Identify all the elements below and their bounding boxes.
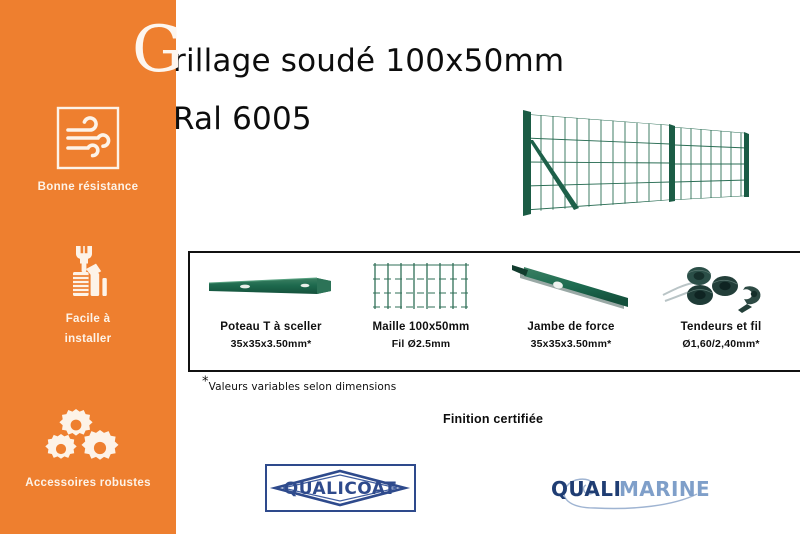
footnote: *Valeurs variables selon dimensions	[202, 381, 396, 393]
feature-label: Accessoires robustes	[25, 473, 151, 493]
title-drop-cap: G	[132, 24, 183, 78]
qualimarine-wordmark-part2: MARINE	[619, 477, 710, 501]
footnote-text: Valeurs variables selon dimensions	[209, 381, 397, 393]
qualimarine-logo: QUALI MARINE	[537, 466, 727, 512]
feature-label: Facile à	[66, 309, 111, 329]
feature-label-2: installer	[65, 329, 112, 349]
product-item-jambe-de-force: Jambe de force 35x35x3.50mm*	[496, 253, 646, 374]
feature-label: Bonne résistance	[38, 177, 139, 197]
gears-icon	[42, 408, 134, 473]
product-name: Maille 100x50mm	[373, 321, 470, 333]
feature-bonne-resistance: Bonne résistance	[0, 104, 176, 197]
feature-accessoires-robustes: Accessoires robustes	[0, 408, 176, 493]
product-name: Poteau T à sceller	[220, 321, 321, 333]
mesh-swatch-image	[351, 259, 491, 315]
product-name: Tendeurs et fil	[681, 321, 762, 333]
title-line-2: Ral 6005	[173, 104, 312, 135]
qualimarine-wordmark-part1: QUALI	[551, 477, 621, 501]
product-gallery-box: Poteau T à sceller 35x35x3.50mm*	[188, 251, 800, 372]
wind-icon	[54, 104, 122, 177]
product-spec: Fil Ø2.5mm	[392, 338, 451, 350]
welded-mesh-fence-photo	[495, 100, 785, 220]
feature-facile-a-installer: Facile à installer	[0, 240, 176, 349]
qualicoat-wordmark: QUALICOAT	[284, 479, 396, 499]
brace-strut-image	[501, 259, 641, 315]
product-spec: Ø1,60/2,40mm*	[682, 338, 759, 350]
tensioners-wire-image	[651, 259, 791, 315]
t-post-image	[201, 259, 341, 315]
product-sheet-page: Bonne résistance	[0, 0, 800, 534]
product-spec: 35x35x3.50mm*	[531, 338, 612, 350]
qualicoat-logo: QUALICOAT	[265, 464, 416, 512]
footnote-asterisk: *	[202, 375, 209, 390]
product-item-poteau-t: Poteau T à sceller 35x35x3.50mm*	[196, 253, 346, 374]
product-spec: 35x35x3.50mm*	[231, 338, 312, 350]
product-item-maille: Maille 100x50mm Fil Ø2.5mm	[346, 253, 496, 374]
wrench-screw-icon	[56, 240, 120, 309]
product-item-tendeurs: Tendeurs et fil Ø1,60/2,40mm*	[646, 253, 796, 374]
finition-certifiee-label: Finition certifiée	[443, 412, 543, 426]
product-name: Jambe de force	[527, 321, 614, 333]
title-line-1: rillage soudé 100x50mm	[173, 46, 564, 77]
